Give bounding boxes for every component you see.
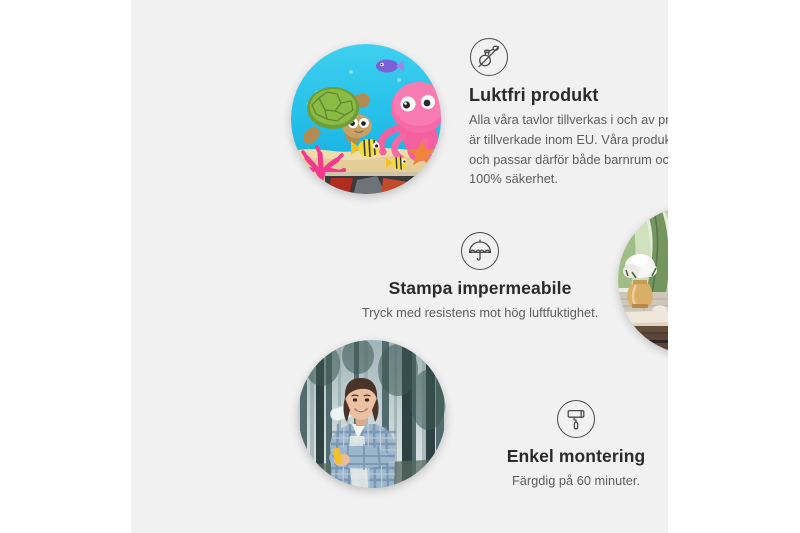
photo-bathroom — [618, 206, 668, 354]
content-panel: Luktfri produkt Alla våra tavlor tillver… — [131, 0, 668, 533]
feature-title: Stampa impermeabile — [341, 278, 619, 299]
feature-title: Enkel montering — [451, 446, 668, 467]
feature-body: Färgdig på 60 minuter. — [451, 471, 668, 491]
feature-odourless: Luktfri produkt Alla våra tavlor tillver… — [469, 38, 668, 189]
feature-title: Luktfri produkt — [469, 85, 668, 106]
feature-easy-mount: Enkel montering Färgdig på 60 minuter. — [451, 400, 668, 491]
promo-banner: Luktfri produkt Alla våra tavlor tillver… — [0, 0, 800, 533]
feature-waterproof: Stampa impermeabile Tryck med resistens … — [341, 232, 619, 323]
paint-roller-icon — [557, 400, 595, 438]
photo-ocean — [291, 44, 441, 194]
feature-body: Tryck med resistens mot hög luftfuktighe… — [341, 303, 619, 323]
no-perfume-icon — [470, 38, 508, 76]
umbrella-icon — [461, 232, 499, 270]
feature-body: Alla våra tavlor tillverkas i och av pro… — [469, 110, 668, 189]
photo-painter — [298, 340, 446, 488]
